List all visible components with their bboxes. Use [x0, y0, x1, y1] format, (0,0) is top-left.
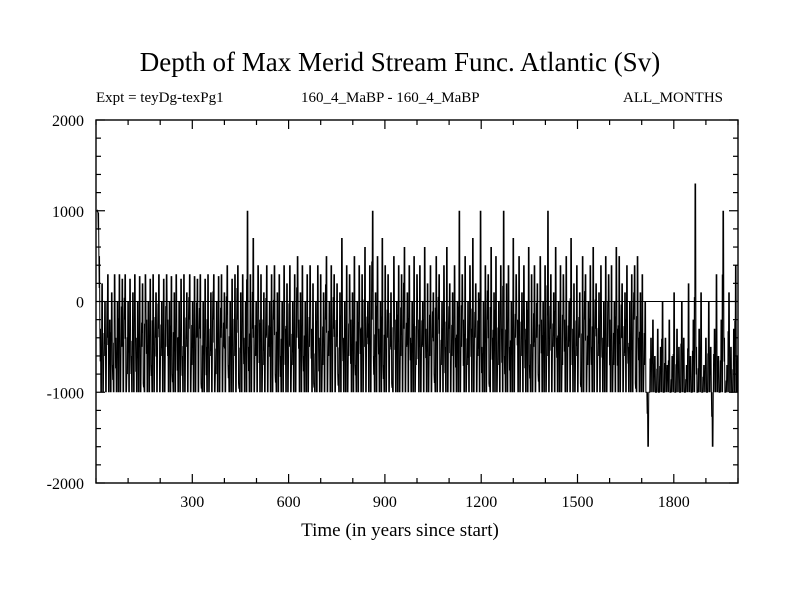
y-tick-label: 1000 — [52, 204, 84, 221]
y-tick-label: -2000 — [47, 476, 84, 493]
x-tick-label: 300 — [180, 494, 204, 511]
x-axis-title: Time (in years since start) — [301, 520, 499, 541]
plot-canvas: 300600900120015001800-2000-1000010002000… — [0, 0, 800, 600]
y-tick-label: -1000 — [47, 385, 84, 402]
x-tick-label: 600 — [277, 494, 301, 511]
x-tick-label: 1800 — [658, 494, 690, 511]
chart-figure: Depth of Max Merid Stream Func. Atlantic… — [0, 0, 800, 600]
data-series-group — [96, 184, 738, 447]
x-tick-label: 1500 — [562, 494, 594, 511]
x-tick-label: 1200 — [465, 494, 497, 511]
data-series-line — [96, 184, 737, 447]
y-tick-label: 2000 — [52, 113, 84, 130]
y-tick-label: 0 — [76, 295, 84, 312]
x-tick-label: 900 — [373, 494, 397, 511]
